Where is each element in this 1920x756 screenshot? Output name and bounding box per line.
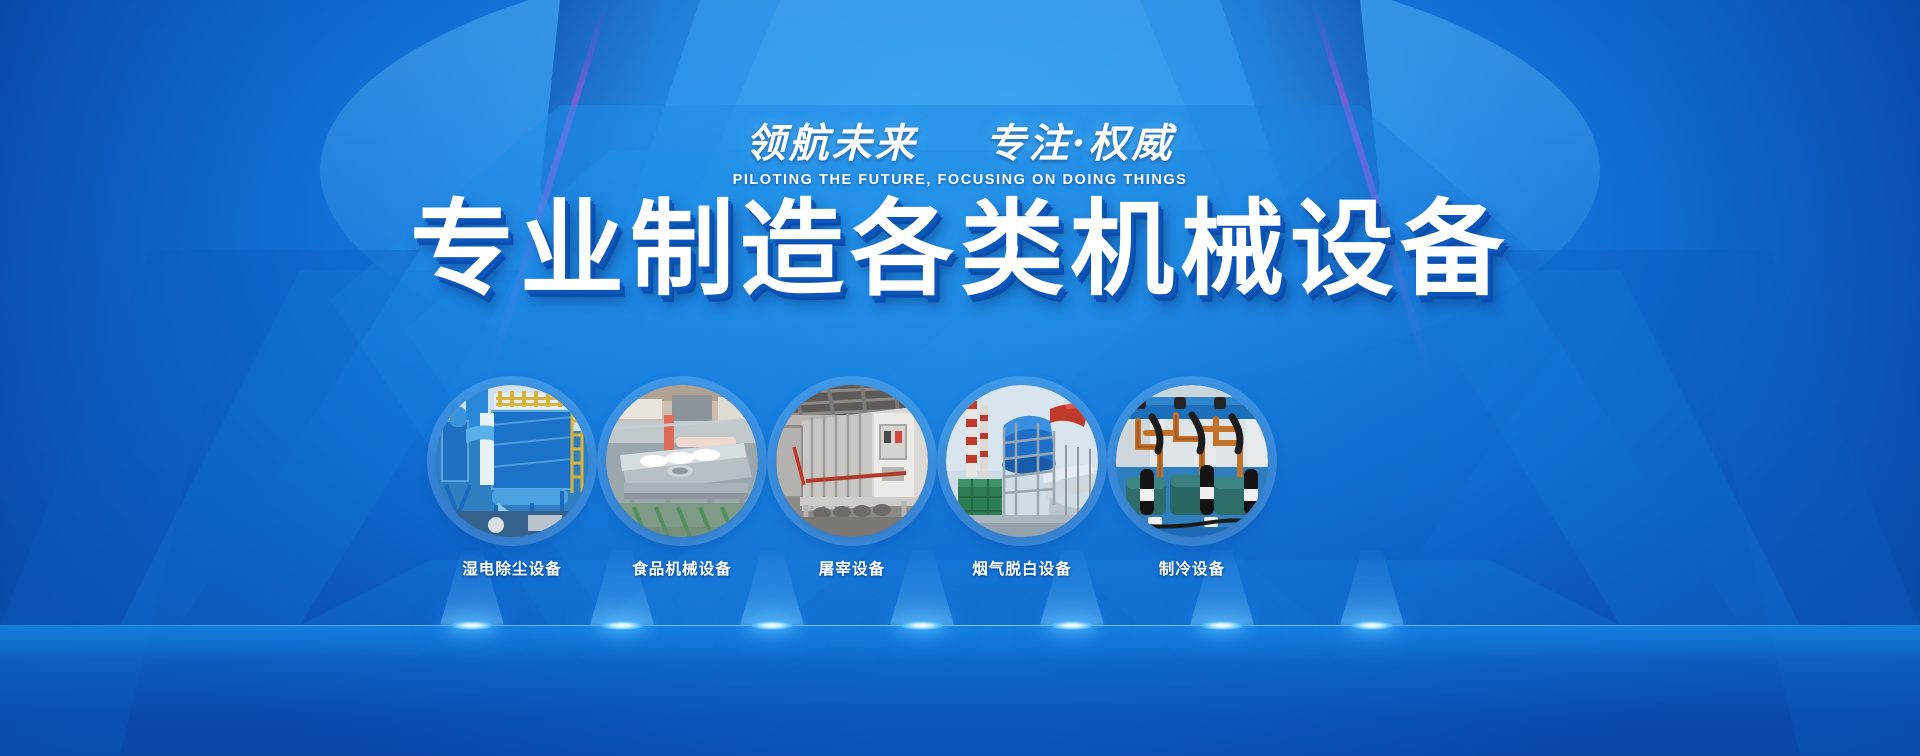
product-thumb-5[interactable] xyxy=(1116,385,1268,537)
tagline-english: PILOTING THE FUTURE, FOCUSING ON DOING T… xyxy=(0,172,1920,188)
product-thumb-2[interactable] xyxy=(606,385,758,537)
product-caption-5: 制冷设备 xyxy=(1072,557,1312,579)
promo-banner: 领航未来 专注·权威 PILOTING THE FUTURE, FOCUSING… xyxy=(0,0,1920,756)
refrigeration-compressor-photo xyxy=(1116,385,1268,537)
product-thumbnails: 湿电除尘设备 食品机械设备 屠宰设备 烟气脱白设备 制冷设备 xyxy=(0,385,1920,565)
slaughtering-equipment-photo xyxy=(776,385,928,537)
product-thumb-4[interactable] xyxy=(946,385,1098,537)
headline: 专业制造各类机械设备 xyxy=(0,198,1920,302)
tagline-chinese-left: 领航未来 xyxy=(746,120,918,167)
product-thumb-3[interactable] xyxy=(776,385,928,537)
wet-electrostatic-precipitator-photo xyxy=(436,385,588,537)
banner-content: 领航未来 专注·权威 PILOTING THE FUTURE, FOCUSING… xyxy=(0,0,1920,756)
product-thumb-1[interactable] xyxy=(436,385,588,537)
tagline-chinese-right: 专注·权威 xyxy=(985,120,1174,167)
food-processing-machinery-photo xyxy=(606,385,758,537)
tagline-chinese: 领航未来 专注·权威 xyxy=(0,124,1920,164)
flue-gas-dewhitening-plant-photo xyxy=(946,385,1098,537)
